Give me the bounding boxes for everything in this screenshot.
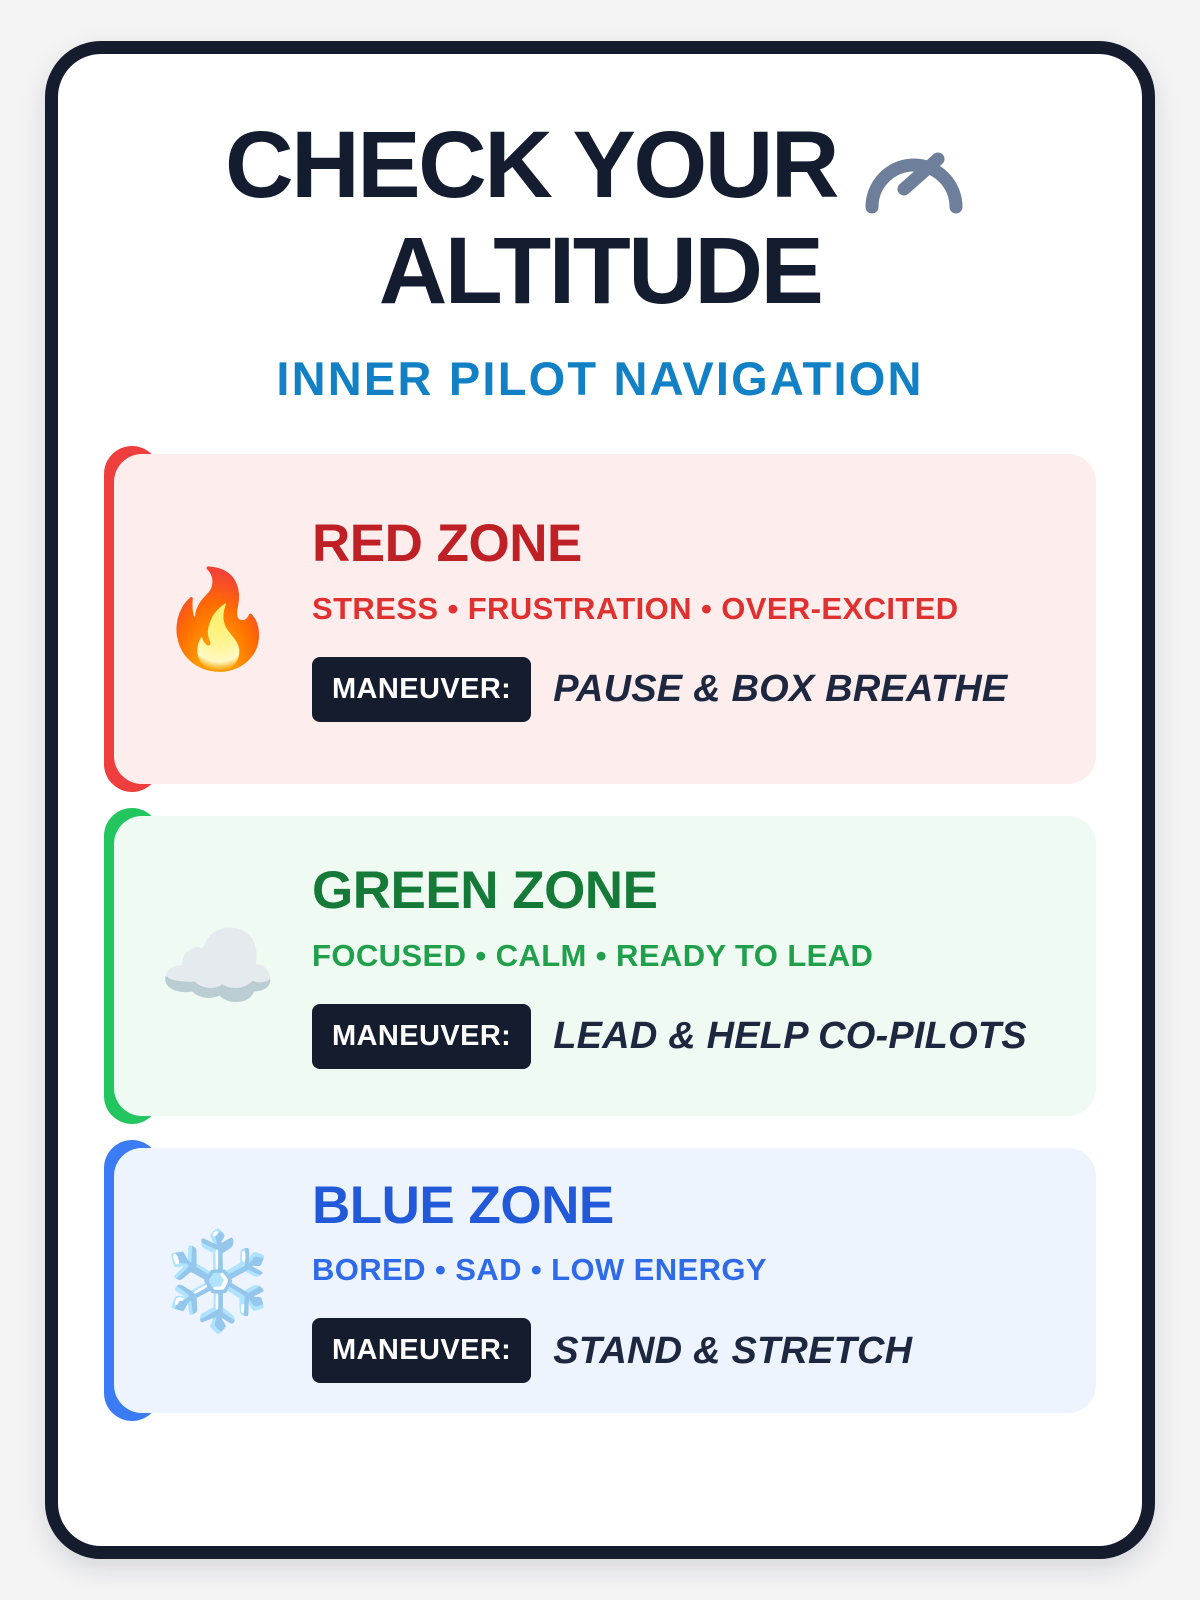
zone-tags-green: FOCUSED • CALM • READY TO LEAD bbox=[312, 934, 1062, 978]
header: CHECK YOUR ALTITUDE INNER PILOT NAVIGATI… bbox=[104, 94, 1096, 406]
cloud-emoji: ☁️ bbox=[134, 918, 302, 1014]
maneuver-badge-red: MANEUVER: bbox=[312, 657, 531, 722]
page-subtitle: INNER PILOT NAVIGATION bbox=[104, 351, 1096, 406]
maneuver-text-blue: STAND & STRETCH bbox=[553, 1326, 912, 1376]
title-line-1: CHECK YOUR bbox=[225, 112, 837, 218]
maneuver-badge-blue: MANEUVER: bbox=[312, 1318, 531, 1383]
title-line-2: ALTITUDE bbox=[104, 218, 1096, 324]
maneuver-row-red: MANEUVER: PAUSE & BOX BREATHE bbox=[312, 657, 1062, 722]
page-title: CHECK YOUR ALTITUDE bbox=[104, 112, 1096, 325]
zone-list: 🔥 RED ZONE STRESS • FRUSTRATION • OVER-E… bbox=[104, 454, 1096, 1414]
zone-tags-red: STRESS • FRUSTRATION • OVER-EXCITED bbox=[312, 587, 1062, 631]
snowflake-emoji: ❄️ bbox=[134, 1233, 302, 1329]
maneuver-row-green: MANEUVER: LEAD & HELP CO-PILOTS bbox=[312, 1004, 1062, 1069]
zone-card-blue[interactable]: ❄️ BLUE ZONE BORED • SAD • LOW ENERGY MA… bbox=[104, 1148, 1096, 1414]
zone-card-green[interactable]: ☁️ GREEN ZONE FOCUSED • CALM • READY TO … bbox=[104, 816, 1096, 1116]
zone-content-red: RED ZONE STRESS • FRUSTRATION • OVER-EXC… bbox=[312, 516, 1062, 722]
zone-card-red[interactable]: 🔥 RED ZONE STRESS • FRUSTRATION • OVER-E… bbox=[104, 454, 1096, 784]
zone-content-green: GREEN ZONE FOCUSED • CALM • READY TO LEA… bbox=[312, 863, 1062, 1069]
poster-frame: CHECK YOUR ALTITUDE INNER PILOT NAVIGATI… bbox=[45, 41, 1155, 1559]
maneuver-text-red: PAUSE & BOX BREATHE bbox=[553, 664, 1007, 714]
gauge-icon bbox=[853, 123, 975, 219]
zone-heading-red: RED ZONE bbox=[312, 516, 1062, 572]
page-background: CHECK YOUR ALTITUDE INNER PILOT NAVIGATI… bbox=[0, 0, 1200, 1600]
fire-emoji: 🔥 bbox=[134, 571, 302, 667]
maneuver-row-blue: MANEUVER: STAND & STRETCH bbox=[312, 1318, 1062, 1383]
zone-heading-blue: BLUE ZONE bbox=[312, 1178, 1062, 1234]
maneuver-text-green: LEAD & HELP CO-PILOTS bbox=[553, 1011, 1027, 1061]
zone-tags-blue: BORED • SAD • LOW ENERGY bbox=[312, 1248, 1062, 1292]
zone-content-blue: BLUE ZONE BORED • SAD • LOW ENERGY MANEU… bbox=[312, 1178, 1062, 1384]
maneuver-badge-green: MANEUVER: bbox=[312, 1004, 531, 1069]
zone-heading-green: GREEN ZONE bbox=[312, 863, 1062, 919]
